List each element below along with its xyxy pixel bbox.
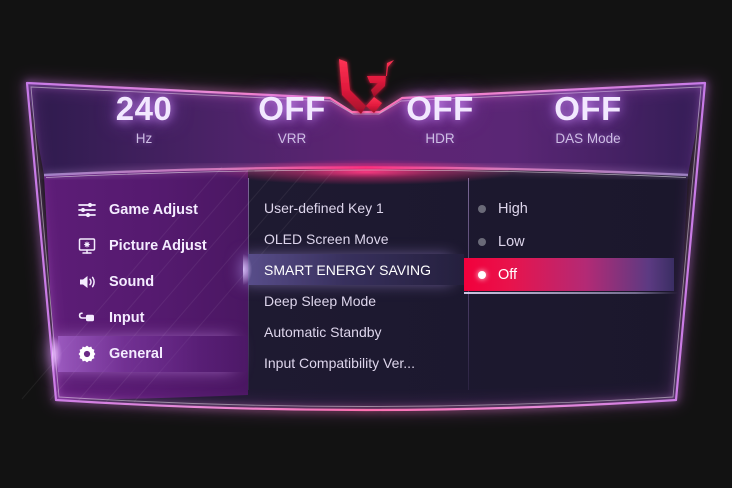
options-list: High Low Off (464, 186, 674, 390)
status-value: OFF (228, 92, 356, 127)
status-label: HDR (376, 131, 504, 146)
sidebar-menu: Game Adjust (58, 186, 248, 390)
option-item-low[interactable]: Low (464, 225, 674, 258)
status-value: OFF (524, 92, 652, 127)
status-label: Hz (80, 131, 208, 146)
sidebar-item-label: Game Adjust (109, 202, 198, 218)
submenu-item-label: Automatic Standby (264, 324, 382, 340)
sidebar-item-label: Sound (109, 274, 154, 290)
submenu-item-user-defined-key-1[interactable]: User-defined Key 1 (248, 192, 464, 223)
status-value: 240 (80, 92, 208, 127)
radio-selected-icon (478, 271, 486, 279)
status-label: VRR (228, 131, 356, 146)
status-item-refresh-rate: 240 Hz (80, 92, 208, 146)
submenu-item-input-compatibility-version[interactable]: Input Compatibility Ver... (248, 347, 464, 378)
submenu-item-label: Deep Sleep Mode (264, 293, 376, 309)
submenu-list: User-defined Key 1 OLED Screen Move SMAR… (248, 186, 464, 390)
submenu-item-label: OLED Screen Move (264, 231, 389, 247)
sidebar-item-label: Input (109, 310, 144, 326)
status-item-vrr: OFF VRR (228, 92, 356, 146)
sidebar-item-label: General (109, 346, 163, 362)
menu-body: Game Adjust (58, 186, 674, 390)
sliders-icon (76, 199, 98, 221)
submenu-item-smart-energy-saving[interactable]: SMART ENERGY SAVING (248, 254, 464, 285)
sidebar-item-picture-adjust[interactable]: Picture Adjust (58, 228, 248, 264)
submenu-item-deep-sleep-mode[interactable]: Deep Sleep Mode (248, 285, 464, 316)
status-value: OFF (376, 92, 504, 127)
sidebar-item-input[interactable]: Input (58, 300, 248, 336)
sidebar-item-general[interactable]: General (58, 336, 248, 372)
submenu-item-label: SMART ENERGY SAVING (264, 262, 431, 278)
plug-icon (76, 307, 98, 329)
option-item-label: Off (498, 267, 517, 283)
status-label: DAS Mode (524, 131, 652, 146)
submenu-item-automatic-standby[interactable]: Automatic Standby (248, 316, 464, 347)
option-item-high[interactable]: High (464, 192, 674, 225)
submenu-item-label: Input Compatibility Ver... (264, 355, 415, 371)
submenu-item-oled-screen-move[interactable]: OLED Screen Move (248, 223, 464, 254)
status-item-hdr: OFF HDR (376, 92, 504, 146)
status-bar: 240 Hz OFF VRR OFF HDR OFF DAS Mode (52, 92, 680, 172)
sidebar-item-game-adjust[interactable]: Game Adjust (58, 192, 248, 228)
monitor-icon (76, 235, 98, 257)
option-item-label: Low (498, 234, 525, 250)
status-item-das-mode: OFF DAS Mode (524, 92, 652, 146)
sidebar-item-sound[interactable]: Sound (58, 264, 248, 300)
radio-icon (478, 238, 486, 246)
option-item-off[interactable]: Off (464, 258, 674, 291)
submenu-item-label: User-defined Key 1 (264, 200, 384, 216)
option-item-label: High (498, 201, 528, 217)
sidebar-item-label: Picture Adjust (109, 238, 207, 254)
speaker-icon (76, 271, 98, 293)
gear-icon (76, 343, 98, 365)
radio-icon (478, 205, 486, 213)
osd-panel: 240 Hz OFF VRR OFF HDR OFF DAS Mode (0, 0, 732, 488)
